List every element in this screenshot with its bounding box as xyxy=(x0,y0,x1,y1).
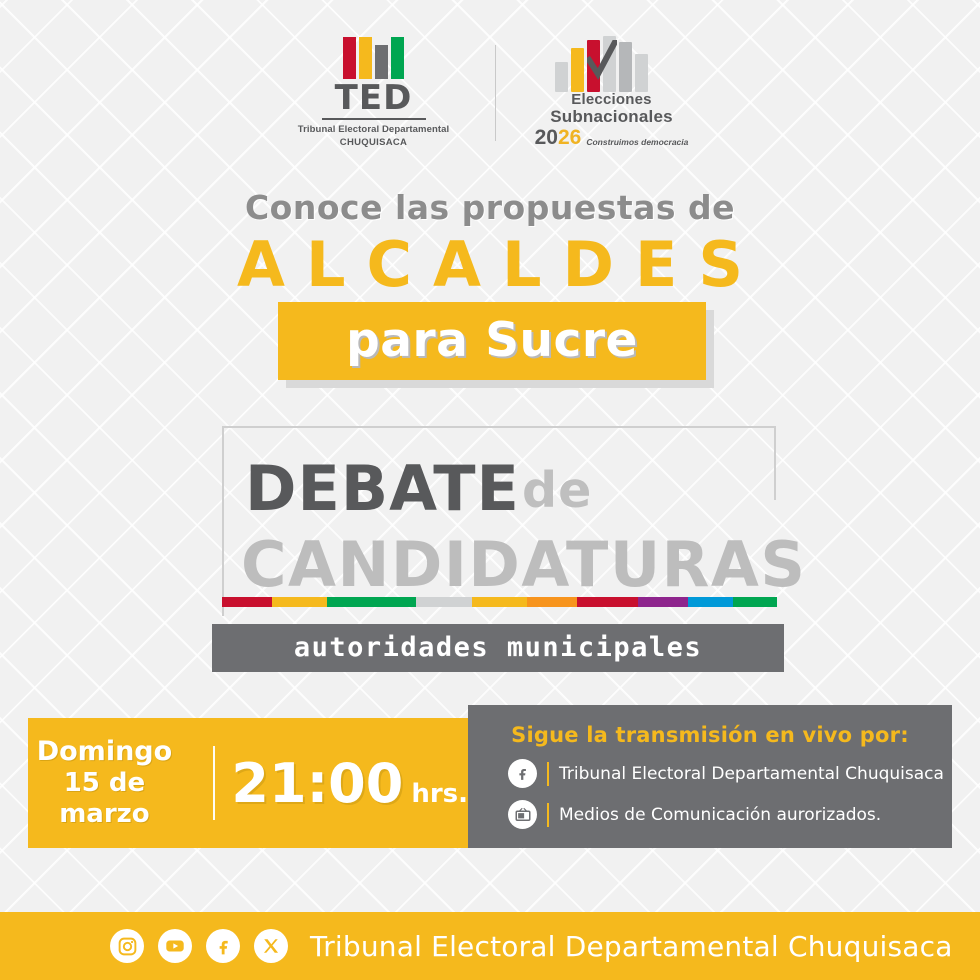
headline-title: ALCALDES xyxy=(0,228,980,301)
event-day: Domingo xyxy=(28,736,181,768)
elections-tagline: Construimos democracia xyxy=(586,137,688,150)
ted-acronym: TED xyxy=(335,81,413,115)
instagram-icon[interactable] xyxy=(110,929,144,963)
elections-line1: Elecciones xyxy=(571,92,651,108)
x-twitter-icon[interactable] xyxy=(254,929,288,963)
debate-color-strip xyxy=(222,597,777,607)
broadcast-channel-label-0: Tribunal Electoral Departamental Chuquis… xyxy=(559,764,944,784)
broadcast-channel-label-1: Medios de Comunicación aurorizados. xyxy=(559,805,881,825)
debate-municipal-label: autoridades municipales xyxy=(212,624,784,672)
footer-institution-name: Tribunal Electoral Departamental Chuquis… xyxy=(310,930,953,963)
elections-logo: Elecciones Subnacionales 2026 Construimo… xyxy=(522,36,702,150)
event-time-block: 21:00 hrs. xyxy=(231,752,468,815)
ted-subtitle-line2: CHUQUISACA xyxy=(340,137,407,148)
elections-year-suffix: 26 xyxy=(558,126,581,149)
debate-candidaturas: CANDIDATURAS xyxy=(241,528,807,601)
broadcast-channel-media: Medios de Comunicación aurorizados. xyxy=(508,800,952,829)
ted-rule xyxy=(322,118,426,120)
event-time-unit: hrs. xyxy=(411,779,468,809)
broadcast-row-separator xyxy=(547,762,549,786)
debate-municipal-bar: autoridades municipales xyxy=(212,624,784,672)
footer-bar: Tribunal Electoral Departamental Chuquis… xyxy=(0,912,980,980)
elections-graphic xyxy=(553,36,671,92)
elections-line2: Subnacionales xyxy=(550,108,673,126)
elections-year: 2026 xyxy=(535,126,582,150)
broadcast-panel: Sigue la transmisión en vivo por: Tribun… xyxy=(468,705,952,848)
youtube-icon[interactable] xyxy=(158,929,192,963)
ted-logo: TED Tribunal Electoral Departamental CHU… xyxy=(279,37,469,148)
event-date-block: Domingo 15 de marzo xyxy=(28,736,197,829)
event-panel: Domingo 15 de marzo 21:00 hrs. xyxy=(28,718,468,848)
footer-social-icons xyxy=(110,929,288,963)
check-icon xyxy=(587,40,617,84)
headline-subtitle: para Sucre xyxy=(278,302,706,380)
ted-color-bars xyxy=(343,37,404,79)
facebook-icon xyxy=(508,759,537,788)
debate-frame-left-line xyxy=(222,426,224,616)
tv-icon xyxy=(508,800,537,829)
headline-kicker: Conoce las propuestas de xyxy=(0,188,980,227)
broadcast-channel-facebook: Tribunal Electoral Departamental Chuquis… xyxy=(508,759,952,788)
facebook-icon[interactable] xyxy=(206,929,240,963)
elections-year-prefix: 20 xyxy=(535,126,558,149)
debate-de-word: de xyxy=(522,462,592,519)
event-date: 15 de marzo xyxy=(28,768,181,829)
event-divider xyxy=(213,746,216,820)
broadcast-row-separator xyxy=(547,803,549,827)
ted-subtitle-line1: Tribunal Electoral Departamental xyxy=(298,124,450,135)
broadcast-title: Sigue la transmisión en vivo por: xyxy=(468,723,952,747)
debate-word: DEBATE xyxy=(245,452,520,525)
header-logos: TED Tribunal Electoral Departamental CHU… xyxy=(0,36,980,150)
event-time: 21:00 xyxy=(231,752,403,815)
logo-divider xyxy=(495,45,496,141)
headline-subtitle-box: para Sucre xyxy=(278,302,706,380)
